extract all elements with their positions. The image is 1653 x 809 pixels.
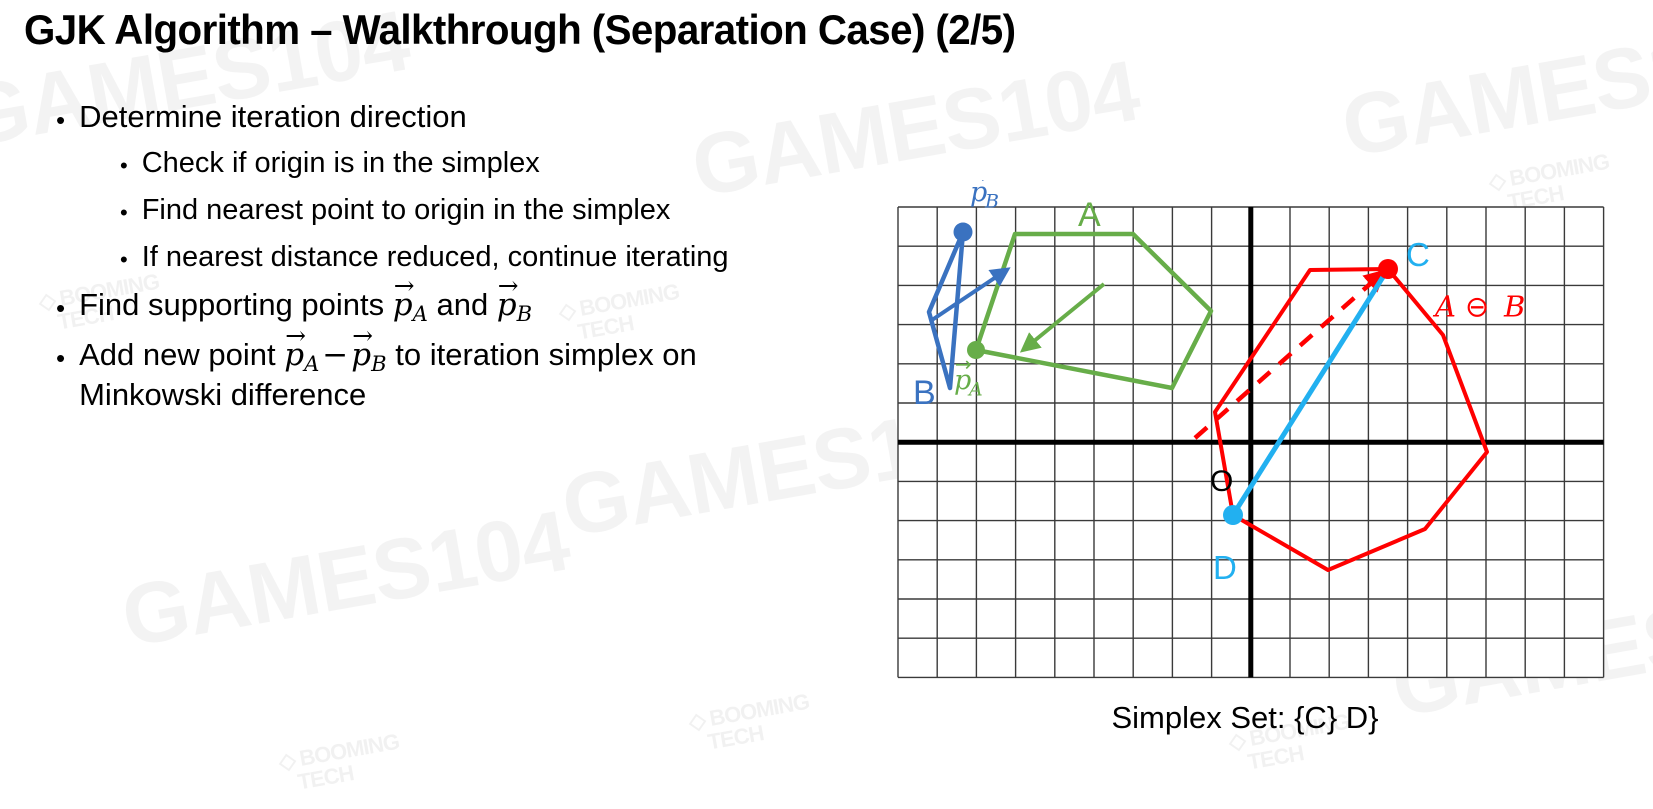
bullet-marker: •: [56, 345, 65, 371]
bullet-marker: •: [120, 155, 128, 177]
minkowski-operator-icon: ⊖: [1465, 290, 1489, 324]
list-item: • If nearest distance reduced, continue …: [120, 239, 756, 276]
minkowski-label-a: A: [1432, 290, 1456, 324]
slide-canvas: GAMES104GAMES104GAMES104GAMES104GAMES104…: [0, 0, 1653, 809]
support-label-pa-sub: A: [967, 379, 983, 401]
vector-pa: →pA: [284, 337, 319, 377]
watermark-booming-tech: ◇ BOOMING TECH: [277, 730, 405, 797]
label-b: B: [913, 374, 936, 412]
vector-arrow-icon: →: [971, 180, 988, 188]
list-item-math: • Find supporting points →pA and →pB: [56, 286, 756, 327]
label-c: C: [1406, 236, 1430, 273]
math-prefix: Add new point: [79, 337, 284, 372]
list-item-label: Find supporting points →pA and →pB: [79, 286, 756, 327]
vector-arrow-icon: →: [498, 274, 518, 299]
label-a: A: [1078, 196, 1101, 234]
vector-arrow-icon: →: [955, 352, 972, 376]
watermark-games104: GAMES104: [1335, 2, 1653, 178]
page-title: GJK Algorithm – Walkthrough (Separation …: [24, 6, 1015, 54]
list-item: • Check if origin is in the simplex: [120, 145, 756, 182]
bullet-marker: •: [56, 107, 65, 133]
bullet-marker: •: [120, 202, 128, 224]
support-point-b: [954, 223, 973, 242]
label-origin: O: [1210, 465, 1233, 498]
list-item-math: • Add new point →pA−→pB to iteration sim…: [56, 336, 756, 414]
list-item: • Determine iteration direction: [56, 98, 756, 136]
vector-arrow-icon: →: [285, 324, 305, 349]
list-item: • Find nearest point to origin in the si…: [120, 192, 756, 229]
watermark-games104: GAMES104: [115, 492, 576, 668]
bullet-list: • Determine iteration direction • Check …: [56, 98, 756, 423]
vector-pa: →pA: [393, 287, 428, 327]
diagram-svg: ApA→BpB→CDOA⊖B: [850, 180, 1640, 690]
bullet-marker: •: [120, 249, 128, 271]
label-d: D: [1213, 549, 1237, 586]
list-item-label: Determine iteration direction: [79, 98, 756, 136]
vector-pb: →pB: [497, 287, 532, 327]
watermark-booming-tech: ◇ BOOMING TECH: [687, 690, 815, 757]
vector-pb: →pB: [351, 337, 386, 377]
minus-operator: −: [319, 337, 351, 373]
simplex-set-caption: Simplex Set: {C} D}: [850, 700, 1640, 736]
list-item-label: Check if origin is in the simplex: [142, 145, 756, 182]
minkowski-label-b: B: [1503, 290, 1525, 324]
list-item-label: Add new point →pA−→pB to iteration simpl…: [79, 336, 756, 414]
list-item-label: Find nearest point to origin in the simp…: [142, 192, 756, 229]
point-d: [1223, 505, 1243, 525]
vector-arrow-icon: →: [352, 324, 372, 349]
bullet-marker: •: [56, 295, 65, 321]
gjk-diagram: ApA→BpB→CDOA⊖B: [850, 180, 1640, 690]
math-prefix: Find supporting points: [79, 287, 393, 322]
math-mid: and: [428, 287, 497, 322]
point-c: [1378, 259, 1398, 279]
vector-arrow-icon: →: [394, 274, 414, 299]
support-label-pb-sub: B: [984, 191, 999, 213]
list-item-label: If nearest distance reduced, continue it…: [142, 239, 756, 276]
